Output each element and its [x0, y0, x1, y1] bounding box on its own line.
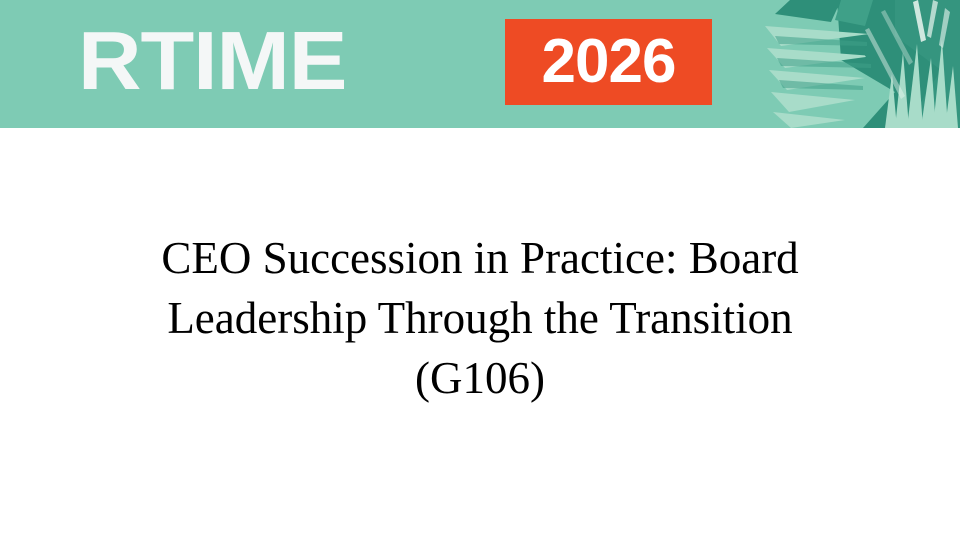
presentation-slide: RTIME 2026 CEO Succession in Practice: B… [0, 0, 960, 540]
slide-title-line-3: (G106) [60, 348, 900, 408]
palm-leaf-graphic [745, 0, 960, 128]
rtime-logo-text: RTIME [78, 11, 346, 111]
slide-header-band: RTIME 2026 [0, 0, 960, 128]
year-badge-label: 2026 [505, 19, 712, 105]
slide-title-line-2: Leadership Through the Transition [60, 288, 900, 348]
year-badge: 2026 [505, 19, 712, 105]
slide-title: CEO Succession in Practice: Board Leader… [60, 228, 900, 408]
slide-title-line-1: CEO Succession in Practice: Board [60, 228, 900, 288]
